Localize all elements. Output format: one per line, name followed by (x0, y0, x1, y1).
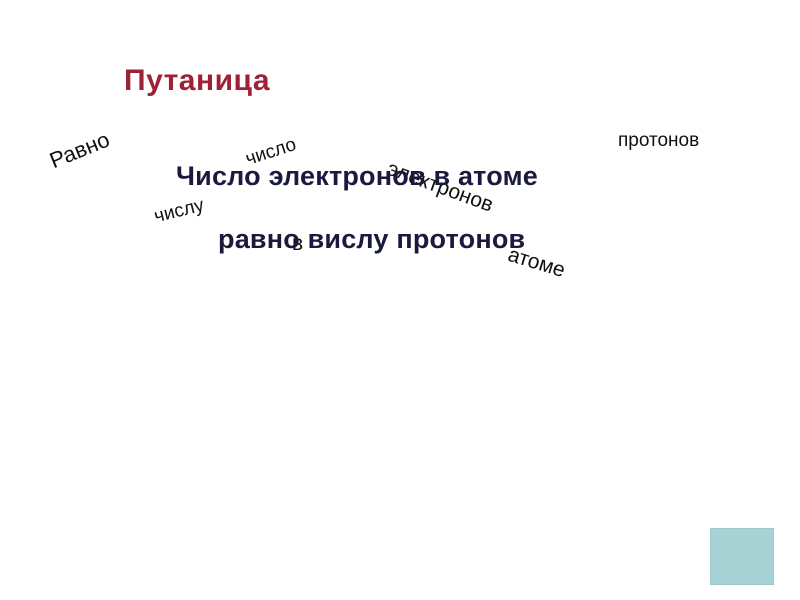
scattered-word: протонов (618, 130, 699, 152)
page-title: Путаница (124, 64, 270, 98)
answer-line-2: равно вислу протонов (218, 224, 525, 255)
scattered-word: Равно (46, 127, 113, 174)
answer-line-1: Число электронов в атоме (176, 161, 538, 192)
slide-canvas: Путаница Равночислоэлектроновпротоновчис… (0, 0, 800, 600)
scattered-word: числу (152, 195, 206, 229)
color-swatch[interactable] (710, 528, 774, 585)
